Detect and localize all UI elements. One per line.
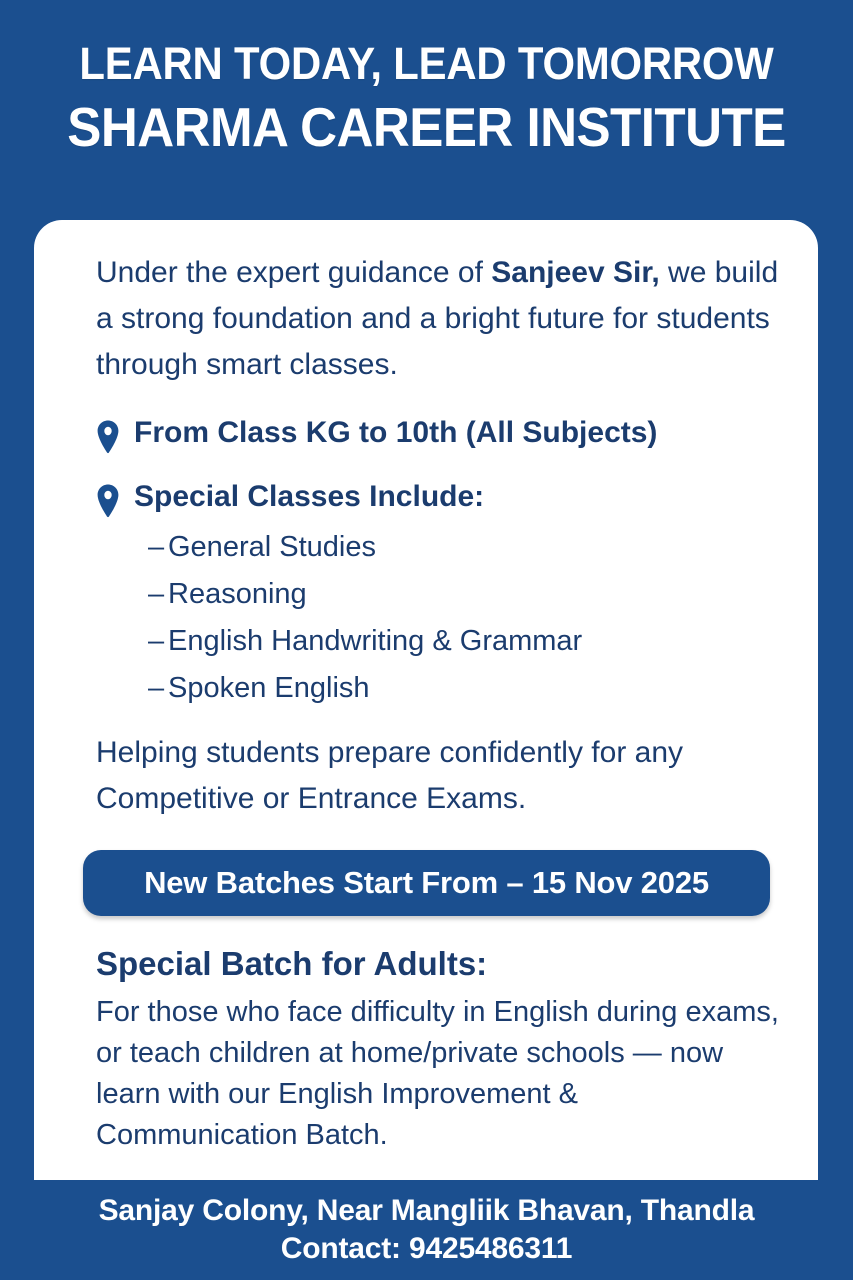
list-item: –English Handwriting & Grammar: [148, 618, 784, 665]
intro-paragraph: Under the expert guidance of Sanjeev Sir…: [96, 250, 784, 388]
footer-address: Sanjay Colony, Near Mangliik Bhavan, Tha…: [0, 1192, 853, 1230]
list-item: –Spoken English: [148, 665, 784, 712]
intro-text-before: Under the expert guidance of: [96, 256, 491, 289]
bullet-special-classes: Special Classes Include:: [96, 478, 784, 518]
adults-batch-body: For those who face difficulty in English…: [96, 992, 784, 1156]
new-batch-banner-label: New Batches Start From – 15 Nov 2025: [144, 865, 709, 901]
dash-marker: –: [148, 571, 168, 618]
map-pin-icon: [96, 484, 120, 518]
special-classes-list: –General Studies –Reasoning –English Han…: [96, 524, 784, 712]
footer-contact: Contact: 9425486311: [0, 1230, 853, 1268]
list-item-label: General Studies: [168, 531, 376, 563]
poster-root: LEARN TODAY, LEAD TOMORROW SHARMA CAREER…: [0, 0, 853, 1280]
list-item-label: Reasoning: [168, 578, 307, 610]
header-tagline: LEARN TODAY, LEAD TOMORROW: [30, 36, 823, 92]
poster-header: LEARN TODAY, LEAD TOMORROW SHARMA CAREER…: [0, 0, 853, 160]
content-card: Under the expert guidance of Sanjeev Sir…: [34, 220, 818, 1180]
list-item-label: Spoken English: [168, 672, 370, 704]
poster-footer: Sanjay Colony, Near Mangliik Bhavan, Tha…: [0, 1192, 853, 1268]
adults-batch-title: Special Batch for Adults:: [96, 942, 784, 986]
bullet-class-range-label: From Class KG to 10th (All Subjects): [134, 414, 657, 452]
bullet-special-classes-label: Special Classes Include:: [134, 478, 484, 516]
list-item: –General Studies: [148, 524, 784, 571]
bullet-class-range: From Class KG to 10th (All Subjects): [96, 414, 784, 454]
dash-marker: –: [148, 665, 168, 712]
helping-note: Helping students prepare confidently for…: [96, 730, 784, 822]
adults-batch-section: Special Batch for Adults: For those who …: [96, 942, 784, 1156]
intro-highlight-name: Sanjeev Sir,: [491, 256, 659, 289]
map-pin-icon: [96, 420, 120, 454]
dash-marker: –: [148, 524, 168, 571]
list-item: –Reasoning: [148, 571, 784, 618]
new-batch-banner: New Batches Start From – 15 Nov 2025: [83, 850, 770, 916]
header-institute-name: SHARMA CAREER INSTITUTE: [30, 94, 823, 160]
dash-marker: –: [148, 618, 168, 665]
card-inner: Under the expert guidance of Sanjeev Sir…: [34, 250, 818, 822]
list-item-label: English Handwriting & Grammar: [168, 625, 582, 657]
